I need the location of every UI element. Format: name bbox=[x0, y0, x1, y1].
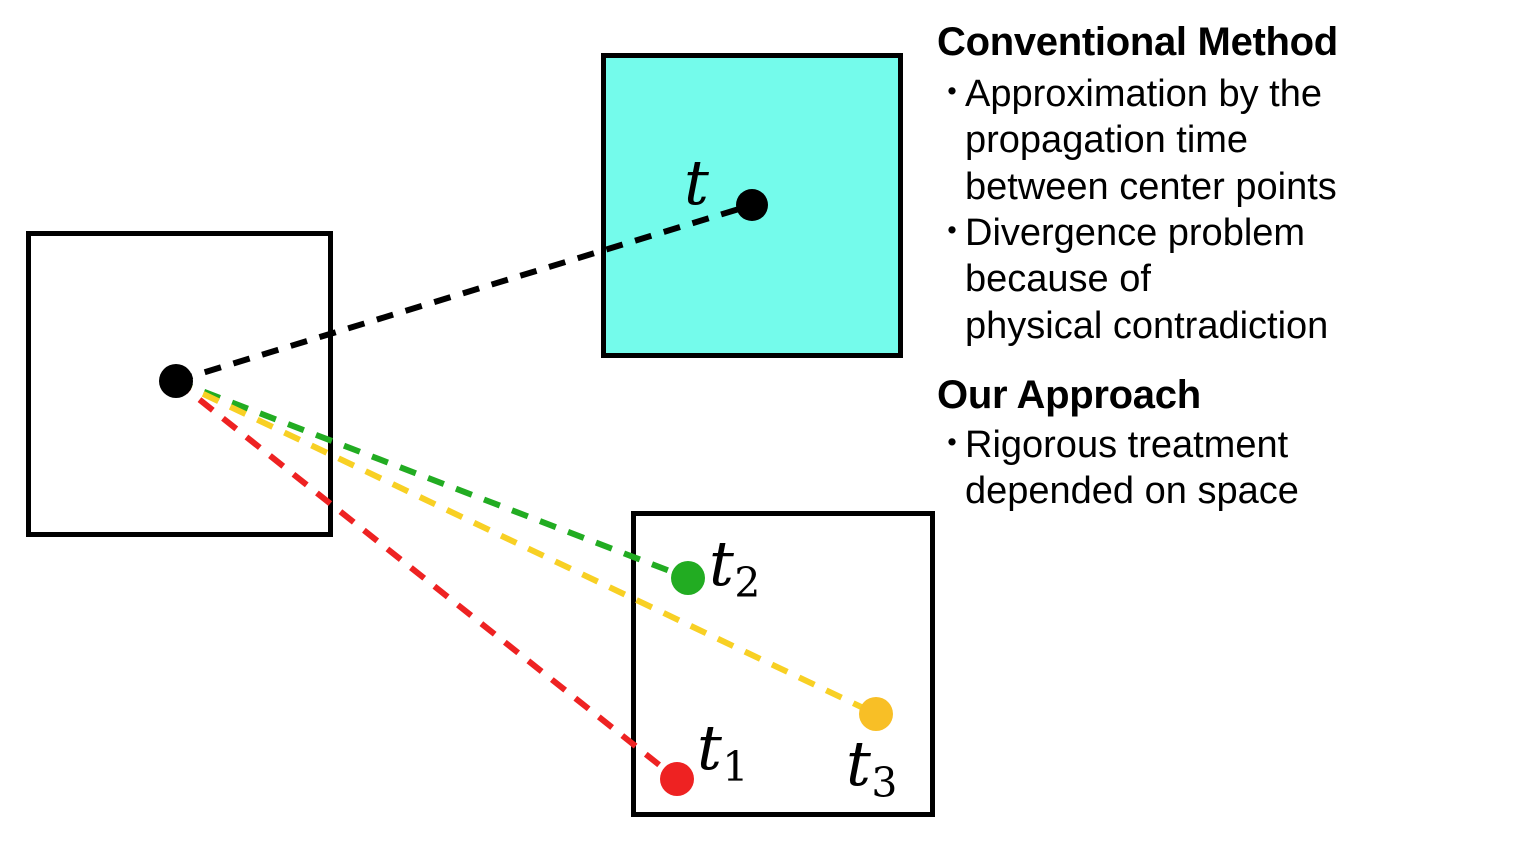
label-point-t2: t2 bbox=[709, 533, 760, 604]
point-t3 bbox=[859, 697, 893, 731]
bullet-marker-icon: ・ bbox=[935, 422, 965, 466]
text-panel: Conventional Method ・ Approximation by t… bbox=[935, 18, 1525, 514]
dashed-line-to-t1 bbox=[176, 381, 677, 779]
point-t bbox=[736, 189, 768, 221]
label-point-t3: t3 bbox=[846, 733, 897, 804]
label-point-t: t bbox=[684, 152, 709, 214]
diagram-canvas: t t2 t1 t3 Conventional Method ・ Approxi… bbox=[0, 0, 1525, 843]
bullet-text: Approximation by the propagation time be… bbox=[965, 71, 1525, 210]
bullet-item: ・ Divergence problem because of physical… bbox=[935, 210, 1525, 349]
bullet-marker-icon: ・ bbox=[935, 71, 965, 115]
bullet-item: ・ Rigorous treatment depended on space bbox=[935, 422, 1525, 515]
heading-our-approach: Our Approach bbox=[937, 371, 1525, 420]
bullet-text: Divergence problem because of physical c… bbox=[965, 210, 1525, 349]
bullet-list-our-approach: ・ Rigorous treatment depended on space bbox=[935, 422, 1525, 515]
label-point-t1: t1 bbox=[697, 717, 748, 788]
heading-conventional-method: Conventional Method bbox=[937, 18, 1525, 67]
point-t1 bbox=[660, 762, 694, 796]
bullet-item: ・ Approximation by the propagation time … bbox=[935, 71, 1525, 210]
bullet-marker-icon: ・ bbox=[935, 210, 965, 254]
source-point bbox=[159, 364, 193, 398]
point-t2 bbox=[671, 561, 705, 595]
bullet-list-conventional: ・ Approximation by the propagation time … bbox=[935, 71, 1525, 349]
bullet-text: Rigorous treatment depended on space bbox=[965, 422, 1525, 515]
